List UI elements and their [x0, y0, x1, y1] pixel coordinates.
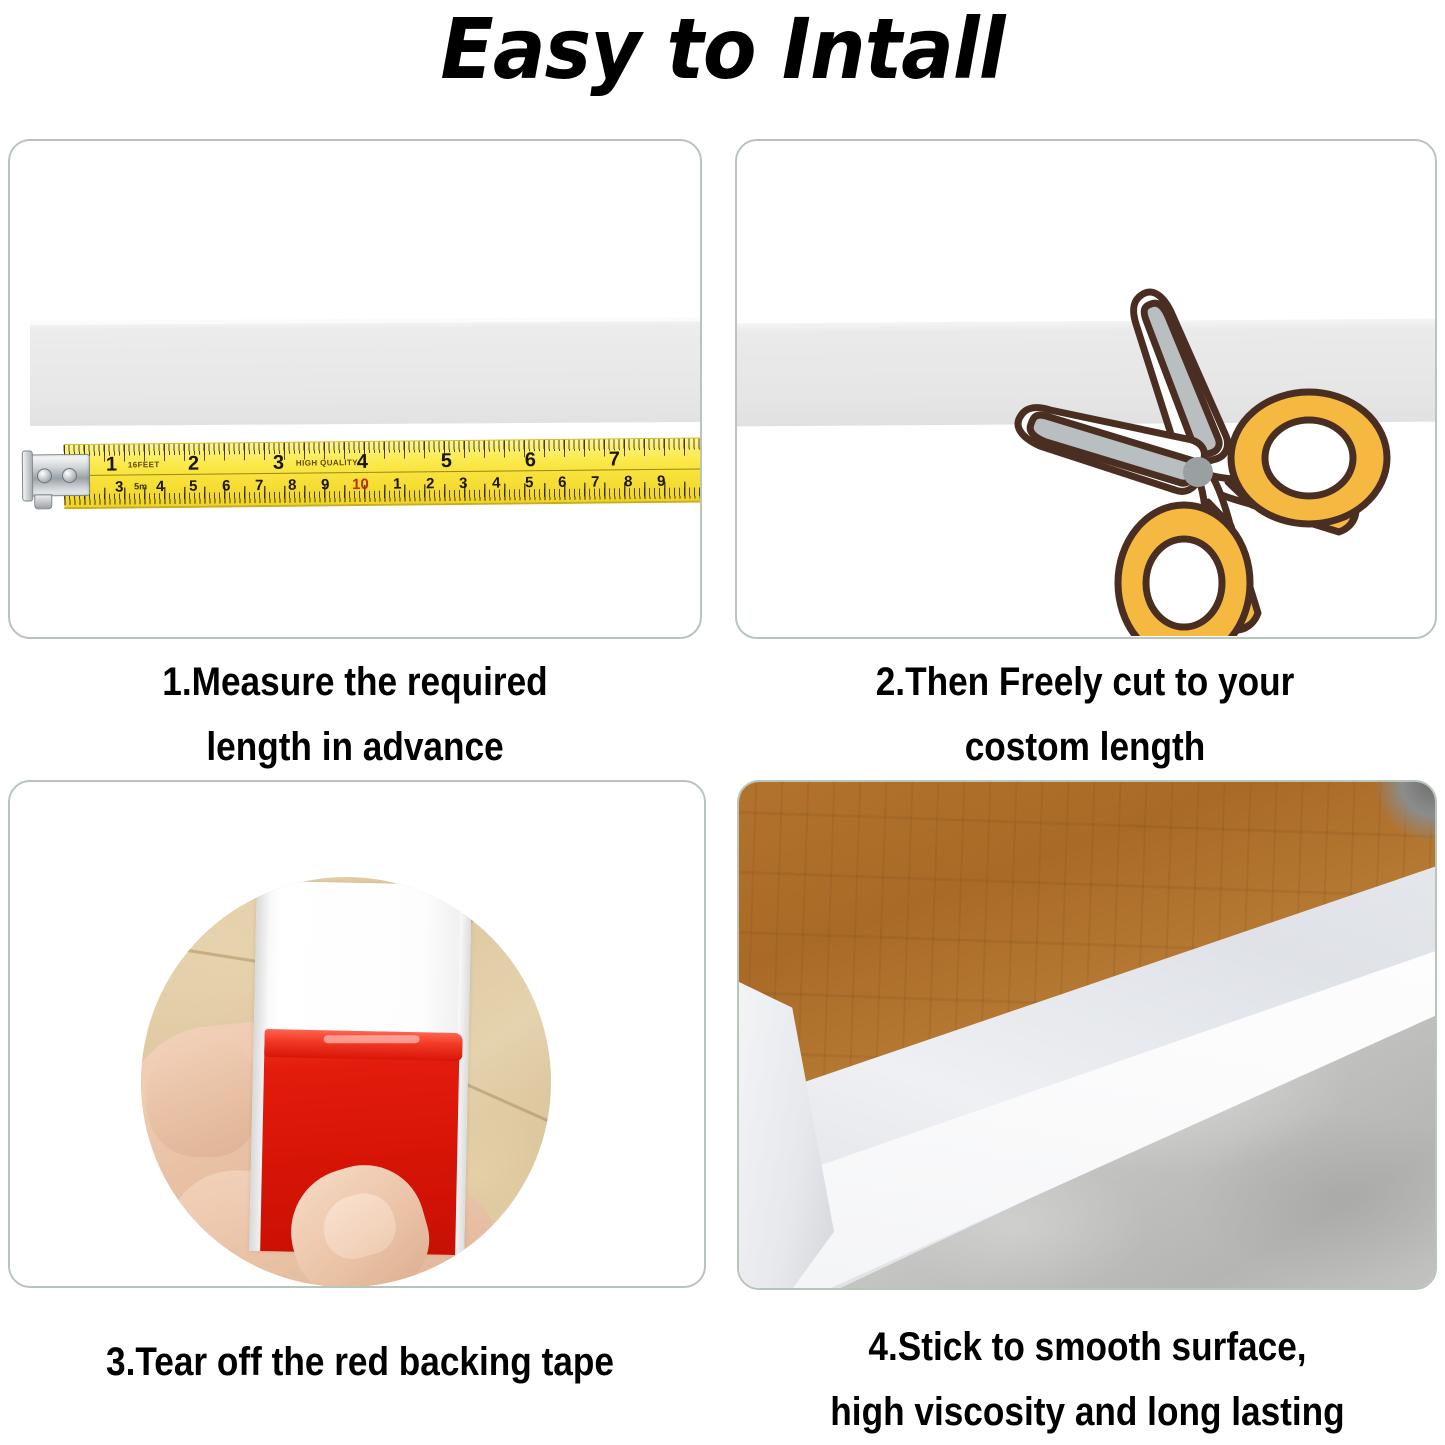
tape-metric-10: 10 — [352, 477, 369, 492]
tape-metric-3: 4 — [156, 479, 165, 494]
step-3-caption: 3.Tear off the red backing tape — [43, 1330, 677, 1395]
step-1-caption-line-1: 1.Measure the required — [51, 650, 658, 715]
scissors-icon — [1012, 286, 1402, 636]
tape-metric-7: 8 — [288, 478, 297, 493]
tape-metric-18: 8 — [624, 474, 633, 489]
tape-imperial-1: 1 — [106, 455, 117, 475]
hand-peeling-tape-photo — [141, 877, 551, 1287]
tape-metric-4: 5 — [189, 479, 198, 494]
tape-quality-label: HIGH QUALITY — [296, 458, 358, 468]
page-title: Easy to Intall — [51, 2, 1395, 96]
step-2-caption-line-1: 2.Then Freely cut to your — [777, 650, 1393, 715]
step-4-caption-line-1: 4.Stick to smooth surface, — [773, 1315, 1402, 1380]
tape-metric-length-label: 5m — [134, 481, 147, 491]
tape-imperial-6: 6 — [525, 450, 536, 470]
tape-imperial-7: 7 — [609, 449, 620, 469]
tape-metric-13: 3 — [459, 476, 468, 491]
tape-metric-16: 6 — [558, 475, 567, 490]
tape-metric-8: 9 — [321, 477, 330, 492]
step-3-image-panel — [8, 780, 706, 1288]
tape-imperial-2: 2 — [188, 454, 199, 474]
photo-corner-shadow — [1375, 782, 1435, 842]
step-1-caption-line-2: length in advance — [51, 715, 658, 780]
tape-strip-graphic — [30, 317, 702, 426]
tape-imperial-3: 3 — [273, 453, 284, 473]
tape-hook-lip — [22, 450, 34, 501]
tape-metric-6: 7 — [255, 478, 264, 493]
step-1-image-panel: 1 2 3 4 5 6 7 2 3 4 5 6 7 8 9 10 1 2 3 4… — [8, 139, 702, 639]
installed-baseboard-photo — [739, 782, 1435, 1288]
tape-imperial-4: 4 — [357, 452, 368, 472]
red-backing-tape-highlight — [324, 1035, 420, 1043]
tape-metric-19: 9 — [657, 474, 666, 489]
tape-brand-label: 16FEET — [128, 460, 160, 469]
scissors-pivot — [1183, 457, 1213, 487]
step-4-caption: 4.Stick to smooth surface, high viscosit… — [773, 1315, 1402, 1445]
step-3-caption-line-1: 3.Tear off the red backing tape — [43, 1330, 677, 1395]
hand-finger-knuckle — [147, 1037, 257, 1157]
tape-metric-15: 5 — [525, 475, 534, 490]
tape-hook-tab — [34, 494, 52, 509]
step-4-caption-line-2: high viscosity and long lasting — [773, 1380, 1402, 1445]
tape-metric-17: 7 — [591, 475, 600, 490]
step-1-caption: 1.Measure the required length in advance — [51, 650, 658, 780]
step-4-image-panel — [737, 780, 1437, 1290]
tape-metric-11: 1 — [393, 477, 402, 492]
tape-hook-icon — [24, 454, 90, 497]
tape-metric-12: 2 — [426, 476, 435, 491]
tape-imperial-5: 5 — [441, 451, 452, 471]
tape-metric-2: 3 — [115, 479, 124, 494]
measuring-tape-icon: 1 2 3 4 5 6 7 2 3 4 5 6 7 8 9 10 1 2 3 4… — [20, 437, 702, 510]
step-2-caption: 2.Then Freely cut to your costom length — [777, 650, 1393, 780]
step-2-caption-line-2: costom length — [777, 715, 1393, 780]
tape-metric-14: 4 — [492, 476, 501, 491]
red-backing-tape-curl — [264, 1029, 463, 1061]
tape-metric-5: 6 — [222, 478, 231, 493]
step-2-image-panel — [735, 139, 1437, 639]
